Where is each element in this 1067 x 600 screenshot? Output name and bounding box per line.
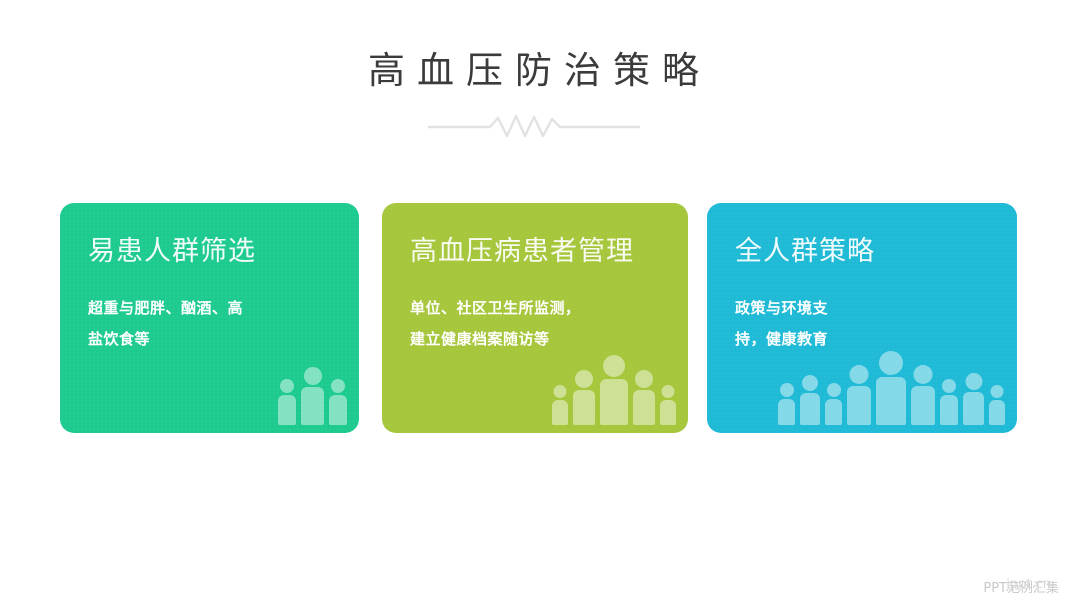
- person-body: [989, 400, 1005, 425]
- cards-row: 易患人群筛选 超重与肥胖、酗酒、高 盐饮食等 高血压病患者管理 单位、社区卫生所…: [60, 203, 1017, 433]
- person-head: [850, 365, 869, 384]
- person-icon: [301, 367, 324, 425]
- people-group-icon: [278, 367, 347, 425]
- person-icon: [825, 383, 842, 425]
- card-body-line: 政策与环境支: [735, 293, 828, 324]
- person-body: [573, 390, 595, 425]
- person-head: [662, 385, 675, 398]
- person-head: [827, 383, 841, 397]
- person-head: [879, 351, 903, 375]
- person-icon: [989, 385, 1005, 425]
- card-body-line: 超重与肥胖、酗酒、高: [88, 293, 243, 324]
- person-head: [554, 385, 567, 398]
- heartbeat-zigzag-divider-icon: [0, 112, 1067, 142]
- person-body: [800, 393, 820, 425]
- person-head: [304, 367, 322, 385]
- page-title: 高血压防治策略: [0, 48, 1067, 94]
- title-block: 高血压防治策略: [0, 48, 1067, 94]
- watermark: PPT范例汇集 jppt.cn: [983, 581, 1059, 596]
- person-icon: [660, 385, 676, 425]
- person-body: [600, 379, 628, 425]
- person-icon: [329, 379, 347, 425]
- person-head: [914, 365, 933, 384]
- people-group-icon: [552, 355, 676, 425]
- person-icon: [911, 365, 935, 425]
- person-body: [329, 395, 347, 425]
- person-icon: [800, 375, 820, 425]
- person-body: [778, 399, 795, 425]
- person-body: [825, 399, 842, 425]
- watermark-secondary: jppt.cn: [1006, 577, 1051, 592]
- person-head: [635, 370, 653, 388]
- card-body-line: 建立健康档案随访等: [410, 324, 581, 355]
- card-heading: 全人群策略: [735, 235, 875, 269]
- person-head: [575, 370, 593, 388]
- person-body: [940, 395, 958, 425]
- person-head: [942, 379, 956, 393]
- person-body: [278, 395, 296, 425]
- person-icon: [963, 373, 984, 425]
- person-icon: [778, 383, 795, 425]
- person-head: [965, 373, 982, 390]
- person-body: [552, 400, 568, 425]
- person-icon: [278, 379, 296, 425]
- card-body-line: 单位、社区卫生所监测，: [410, 293, 581, 324]
- person-icon: [940, 379, 958, 425]
- person-body: [301, 387, 324, 425]
- person-head: [331, 379, 345, 393]
- card-hypertension-patient-management[interactable]: 高血压病患者管理 单位、社区卫生所监测， 建立健康档案随访等: [382, 203, 688, 433]
- person-body: [633, 390, 655, 425]
- person-body: [847, 386, 871, 425]
- person-icon: [876, 351, 906, 425]
- person-icon: [573, 370, 595, 425]
- person-body: [911, 386, 935, 425]
- person-icon: [552, 385, 568, 425]
- person-head: [991, 385, 1004, 398]
- card-whole-population-strategy[interactable]: 全人群策略 政策与环境支 持，健康教育: [707, 203, 1017, 433]
- card-body: 超重与肥胖、酗酒、高 盐饮食等: [88, 293, 243, 355]
- people-group-icon: [778, 351, 1005, 425]
- card-body: 政策与环境支 持，健康教育: [735, 293, 828, 355]
- person-head: [802, 375, 818, 391]
- person-icon: [600, 355, 628, 425]
- card-body-line: 盐饮食等: [88, 324, 243, 355]
- person-body: [876, 377, 906, 425]
- person-head: [603, 355, 625, 377]
- card-susceptible-population-screening[interactable]: 易患人群筛选 超重与肥胖、酗酒、高 盐饮食等: [60, 203, 359, 433]
- person-icon: [847, 365, 871, 425]
- card-body: 单位、社区卫生所监测， 建立健康档案随访等: [410, 293, 581, 355]
- person-body: [963, 392, 984, 425]
- card-body-line: 持，健康教育: [735, 324, 828, 355]
- slide-root: 高血压防治策略 易患人群筛选 超重与肥胖、酗酒、高 盐饮食等 高血压病患者管理 …: [0, 0, 1067, 600]
- person-head: [780, 383, 794, 397]
- person-head: [280, 379, 294, 393]
- card-heading: 高血压病患者管理: [410, 235, 634, 269]
- person-icon: [633, 370, 655, 425]
- person-body: [660, 400, 676, 425]
- card-heading: 易患人群筛选: [88, 235, 256, 269]
